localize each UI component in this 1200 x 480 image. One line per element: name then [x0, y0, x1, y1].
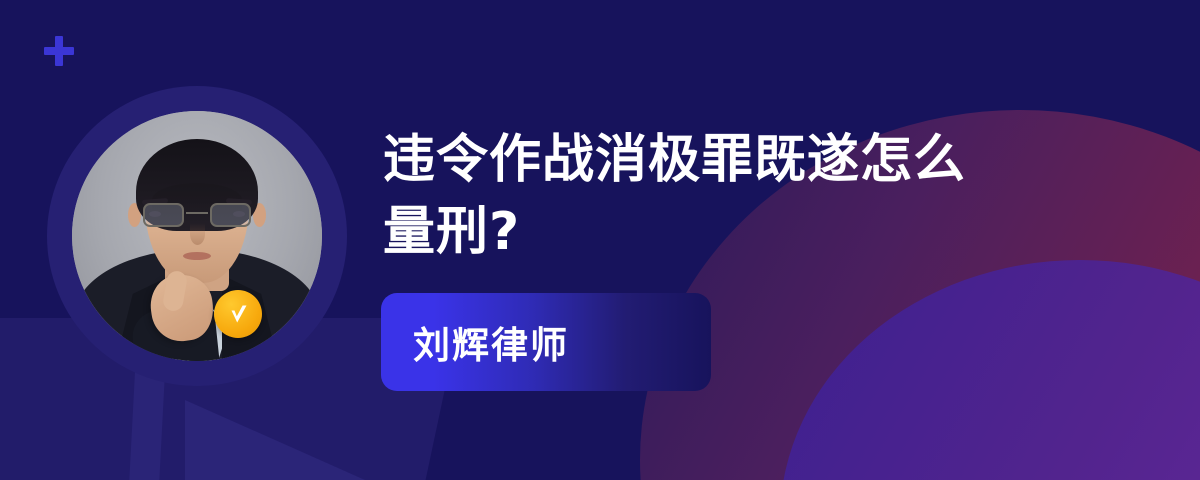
verified-check-badge [214, 290, 262, 338]
avatar [47, 86, 347, 386]
lawyer-question-banner: 违令作战消极罪既遂怎么 量刑? 刘辉律师 [0, 0, 1200, 480]
portrait-illustration [72, 111, 322, 361]
page-title: 违令作战消极罪既遂怎么 量刑? [383, 124, 1083, 268]
lawyer-name-label: 刘辉律师 [413, 315, 569, 369]
headline-block: 违令作战消极罪既遂怎么 量刑? [383, 124, 1083, 268]
plus-icon [44, 36, 74, 66]
lawyer-portrait-photo [72, 111, 322, 361]
lawyer-name-button[interactable]: 刘辉律师 [381, 293, 711, 391]
